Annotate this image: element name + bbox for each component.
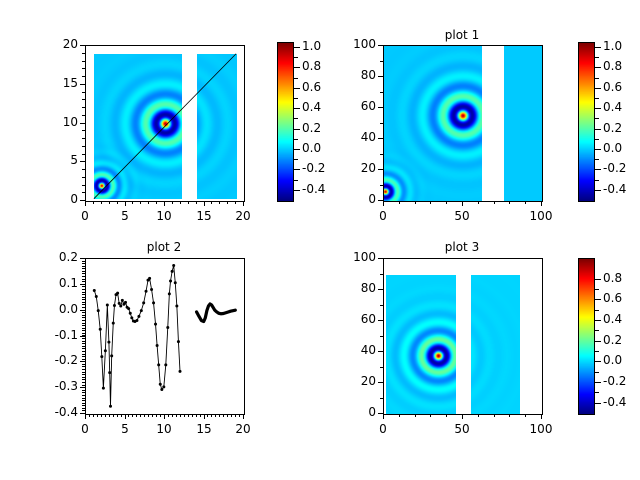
xtick-minor [509,414,510,417]
ytick-minor [82,315,85,316]
ytick-minor [82,258,85,259]
colorbar-tick [595,403,601,404]
data-point-marker [152,301,155,304]
xtick-minor [541,414,542,417]
data-point-marker [121,299,124,302]
data-point-marker [100,355,103,358]
ytick-minor [82,333,85,334]
ytick-minor [82,335,85,336]
xtick-minor [132,201,133,204]
data-point-marker [145,290,148,293]
line-segment-a [94,265,180,406]
xtick-label: 5 [105,209,145,223]
data-point-marker [137,315,140,318]
data-point-marker [108,371,111,374]
ytick-major [80,336,85,337]
ytick-minor [82,359,85,360]
data-point-marker [160,388,163,391]
colorbar-tick-label: 0.8 [603,271,640,285]
colorbar-tick [595,47,601,48]
colorbar-tick-label: -0.2 [603,161,640,175]
panel-bottom-left: plot 2 [85,240,243,256]
colorbar-tick [294,88,300,89]
ytick-minor [82,348,85,349]
figure-canvas: plot 1 plot 2 plot 3 0510152005101520-0.… [0,0,640,480]
xtick-label: 0 [65,422,105,436]
xtick-minor [164,414,165,417]
ytick-label: 100 [332,250,376,264]
ytick-minor [82,343,85,344]
data-point-marker [150,288,153,291]
xtick-minor [525,414,526,417]
ytick-minor [82,398,85,399]
colorbar-tick-label: 1.0 [603,39,640,53]
colorbar-tick-minor [595,351,599,352]
ytick-minor [82,395,85,396]
ytick-minor [82,356,85,357]
ytick-minor [82,346,85,347]
data-point-marker [109,405,112,408]
ytick-minor [82,328,85,329]
xtick-minor [93,414,94,417]
data-point-marker [112,322,115,325]
colorbar-tick [595,299,601,300]
data-point-marker [140,309,143,312]
data-point-marker [93,289,96,292]
data-point-marker [172,264,175,267]
ytick-label: 0.0 [34,302,78,316]
axes-top-right [383,45,543,202]
ytick-minor [380,367,383,368]
xtick-minor [196,414,197,417]
panel-title-plot-1: plot 1 [383,28,541,42]
colorbar-tick-minor [595,372,599,373]
ytick-minor [82,177,85,178]
ytick-label: 80 [332,281,376,295]
data-point-marker [116,292,119,295]
data-point-marker [106,303,109,306]
ytick-label: 5 [34,153,78,167]
colorbar-tick-minor [595,98,599,99]
ytick-minor [82,261,85,262]
data-point-marker [157,363,160,366]
colorbar-tick [595,361,601,362]
colorbar-tick-minor [595,310,599,311]
data-point-marker [129,312,132,315]
ytick-minor [380,305,383,306]
colorbar-tick [294,67,300,68]
ytick-minor [82,284,85,285]
xtick-minor [227,201,228,204]
ytick-label: 20 [332,374,376,388]
ytick-minor [82,323,85,324]
panel-bottom-right: plot 3 [383,240,541,256]
xtick-minor [509,201,510,204]
ytick-label: 40 [332,343,376,357]
ytick-minor [82,192,85,193]
ytick-minor [82,266,85,267]
ytick-minor [82,161,85,162]
ytick-minor [82,279,85,280]
ytick-minor [82,369,85,370]
data-point-marker [148,277,151,280]
ytick-minor [380,169,383,170]
ytick-minor [82,304,85,305]
xtick-minor [180,201,181,204]
ytick-minor [380,274,383,275]
ytick-minor [82,53,85,54]
ytick-minor [380,185,383,186]
xtick-minor [160,414,161,417]
colorbar-tick [595,382,601,383]
data-point-marker [119,305,122,308]
ytick-minor [380,382,383,383]
data-point-marker [169,279,172,282]
xtick-minor [156,414,157,417]
xtick-minor [168,414,169,417]
data-point-marker [95,295,98,298]
ytick-minor [82,263,85,264]
colorbar-tick-label: 0.2 [603,333,640,347]
xtick-minor [525,201,526,204]
ytick-minor [82,408,85,409]
colorbar-tick [294,108,300,109]
ytick-minor [82,76,85,77]
xtick-minor [164,201,165,204]
xtick-minor [219,414,220,417]
ytick-minor [380,258,383,259]
xtick-minor [399,201,400,204]
ytick-minor [82,325,85,326]
xtick-minor [144,414,145,417]
data-point-marker [154,323,157,326]
xtick-label: 0 [363,209,403,223]
xtick-minor [215,414,216,417]
ytick-minor [82,107,85,108]
ytick-label: 60 [332,99,376,113]
xtick-minor [446,201,447,204]
xtick-minor [188,201,189,204]
colorbar-tick-minor [294,118,298,119]
ytick-minor [82,317,85,318]
ytick-minor [82,387,85,388]
colorbar-tick [595,190,601,191]
colorbar-tick [595,149,601,150]
data-point-marker [130,316,133,319]
xtick-minor [172,201,173,204]
ytick-minor [82,299,85,300]
xtick-label: 15 [184,209,224,223]
ytick-minor [82,310,85,311]
ytick-label: 40 [332,130,376,144]
ytick-minor [82,130,85,131]
xtick-minor [223,414,224,417]
colorbar-tick [294,169,300,170]
data-point-marker [124,301,127,304]
xtick-minor [478,414,479,417]
xtick-minor [101,414,102,417]
colorbar-tick-label: -0.4 [603,395,640,409]
xtick-minor [227,414,228,417]
data-point-marker [179,370,182,373]
ytick-minor [82,410,85,411]
xtick-minor [494,201,495,204]
colorbar-tick-minor [595,289,599,290]
ytick-minor [82,302,85,303]
ytick-minor [380,351,383,352]
ytick-label: -0.3 [34,379,78,393]
colorbar-tick-minor [294,139,298,140]
data-point-marker [104,349,107,352]
colorbar-tick-label: 0.0 [603,353,640,367]
panel-top-left [85,28,243,44]
ytick-minor [82,341,85,342]
xtick-label: 50 [442,422,482,436]
xtick-minor [85,201,86,204]
xtick-label: 10 [144,422,184,436]
colorbar-tick [595,320,601,321]
xtick-label: 5 [105,422,145,436]
xtick-minor [188,414,189,417]
line-segment-b [197,304,236,322]
colorbar-tick-minor [595,392,599,393]
ytick-minor [82,403,85,404]
xtick-label: 0 [363,422,403,436]
ytick-label: 20 [34,37,78,51]
ytick-label: 0.1 [34,276,78,290]
ytick-minor [82,84,85,85]
xtick-minor [200,414,201,417]
colorbar-tick [294,129,300,130]
data-point-marker [175,305,178,308]
ytick-minor [82,351,85,352]
xtick-minor [243,201,244,204]
xtick-minor [383,201,384,204]
heatmap-right-field-bottom-right [471,275,520,415]
ytick-minor [82,379,85,380]
colorbar-tick-minor [294,78,298,79]
xtick-minor [93,201,94,204]
xtick-minor [132,414,133,417]
xtick-minor [430,414,431,417]
ytick-minor [82,289,85,290]
xtick-minor [478,201,479,204]
ytick-minor [82,273,85,274]
xtick-minor [235,201,236,204]
ytick-minor [82,320,85,321]
ytick-label: 0 [34,192,78,206]
xtick-minor [121,414,122,417]
xtick-minor [196,201,197,204]
xtick-minor [239,414,240,417]
xtick-minor [148,201,149,204]
heatmap-right-field-top-right [504,46,542,201]
xtick-minor [415,414,416,417]
ytick-label: 0.2 [34,250,78,264]
colorbar-tick-minor [294,180,298,181]
ytick-label: 20 [332,161,376,175]
colorbar-bottom-right [578,258,595,415]
ytick-minor [380,138,383,139]
data-point-marker [110,354,113,357]
xtick-minor [231,414,232,417]
colorbar-tick-minor [595,330,599,331]
data-point-marker [166,326,169,329]
data-point-marker [174,281,177,284]
colorbar-tick [294,149,300,150]
line-series-group [86,259,244,414]
xtick-minor [136,414,137,417]
ytick-minor [380,123,383,124]
xtick-minor [243,414,244,417]
ytick-minor [82,372,85,373]
ytick-label: 0 [332,192,376,206]
colorbar-tick-label: 0.6 [302,80,346,94]
colorbar-tick [595,67,601,68]
data-point-marker [171,270,174,273]
panel-title-plot-2: plot 2 [85,240,243,254]
xtick-minor [109,414,110,417]
xtick-minor [109,201,110,204]
colorbar-gradient [278,43,293,201]
xtick-minor [140,414,141,417]
ytick-minor [380,320,383,321]
xtick-minor [211,201,212,204]
xtick-minor [113,414,114,417]
data-point-marker [99,328,102,331]
xtick-minor [140,201,141,204]
data-point-marker [159,383,162,386]
colorbar-tick-minor [294,98,298,99]
colorbar-tick [294,190,300,191]
xtick-minor [415,201,416,204]
ytick-minor [380,398,383,399]
xtick-minor [89,414,90,417]
xtick-minor [399,414,400,417]
xtick-minor [446,414,447,417]
ytick-minor [82,294,85,295]
ytick-minor [82,92,85,93]
ytick-minor [380,154,383,155]
ytick-minor [82,385,85,386]
ytick-minor [82,364,85,365]
xtick-minor [172,414,173,417]
axes-bottom-left [85,258,245,415]
xtick-label: 20 [223,209,263,223]
ytick-minor [82,374,85,375]
ytick-label: 100 [332,37,376,51]
colorbar-tick-minor [595,57,599,58]
xtick-label: 0 [65,209,105,223]
axes-bottom-right [383,258,543,415]
xtick-label: 50 [442,209,482,223]
ytick-minor [82,154,85,155]
colorbar-tick [595,108,601,109]
ytick-minor [82,377,85,378]
xtick-minor [152,414,153,417]
ytick-minor [82,271,85,272]
ytick-minor [82,390,85,391]
data-point-marker [118,302,121,305]
colorbar-tick-label: -0.4 [603,182,640,196]
heatmap-left-field-bottom-right [386,275,456,415]
xtick-minor [383,414,384,417]
data-point-marker [107,341,110,344]
ytick-minor [82,382,85,383]
data-point-marker [164,363,167,366]
xtick-minor [148,414,149,417]
ytick-minor [380,336,383,337]
ytick-minor [82,354,85,355]
xtick-minor [211,414,212,417]
data-point-marker [127,307,130,310]
ytick-minor [82,286,85,287]
colorbar-tick-minor [294,159,298,160]
colorbar-tick [595,341,601,342]
ytick-minor [380,61,383,62]
xtick-minor [462,201,463,204]
xtick-minor [430,201,431,204]
ytick-minor [82,68,85,69]
data-point-marker [156,344,159,347]
ytick-minor [82,330,85,331]
colorbar-top-left [277,42,294,202]
xtick-minor [156,201,157,204]
ytick-minor [82,307,85,308]
ytick-minor [82,115,85,116]
xtick-minor [101,201,102,204]
xtick-minor [541,201,542,204]
colorbar-tick [595,279,601,280]
ytick-minor [82,405,85,406]
ytick-label: 80 [332,68,376,82]
colorbar-tick [595,169,601,170]
data-point-marker [162,385,165,388]
ytick-minor [380,92,383,93]
colorbar-tick-minor [595,180,599,181]
colorbar-tick-label: 0.0 [603,141,640,155]
ytick-label: -0.2 [34,353,78,367]
xtick-minor [125,414,126,417]
ytick-minor [82,361,85,362]
ytick-label: 15 [34,76,78,90]
xtick-minor [128,414,129,417]
heatmap-left-field-top-right [384,46,482,201]
ytick-minor [82,297,85,298]
ytick-minor [82,61,85,62]
ytick-label: 10 [34,115,78,129]
xtick-label: 20 [223,422,263,436]
colorbar-tick-label: 0.4 [603,100,640,114]
xtick-label: 15 [184,422,224,436]
colorbar-tick-minor [595,78,599,79]
ytick-minor [380,289,383,290]
xtick-minor [184,414,185,417]
xtick-minor [494,414,495,417]
ytick-minor [82,281,85,282]
ytick-minor [82,138,85,139]
xtick-minor [125,201,126,204]
colorbar-tick-label: 0.2 [603,121,640,135]
panel-top-right: plot 1 [383,28,541,44]
colorbar-gradient [579,259,594,414]
data-point-marker [142,301,145,304]
data-point-marker [102,387,105,390]
ytick-label: 60 [332,312,376,326]
ytick-minor [82,338,85,339]
ytick-minor [82,169,85,170]
xtick-minor [462,414,463,417]
